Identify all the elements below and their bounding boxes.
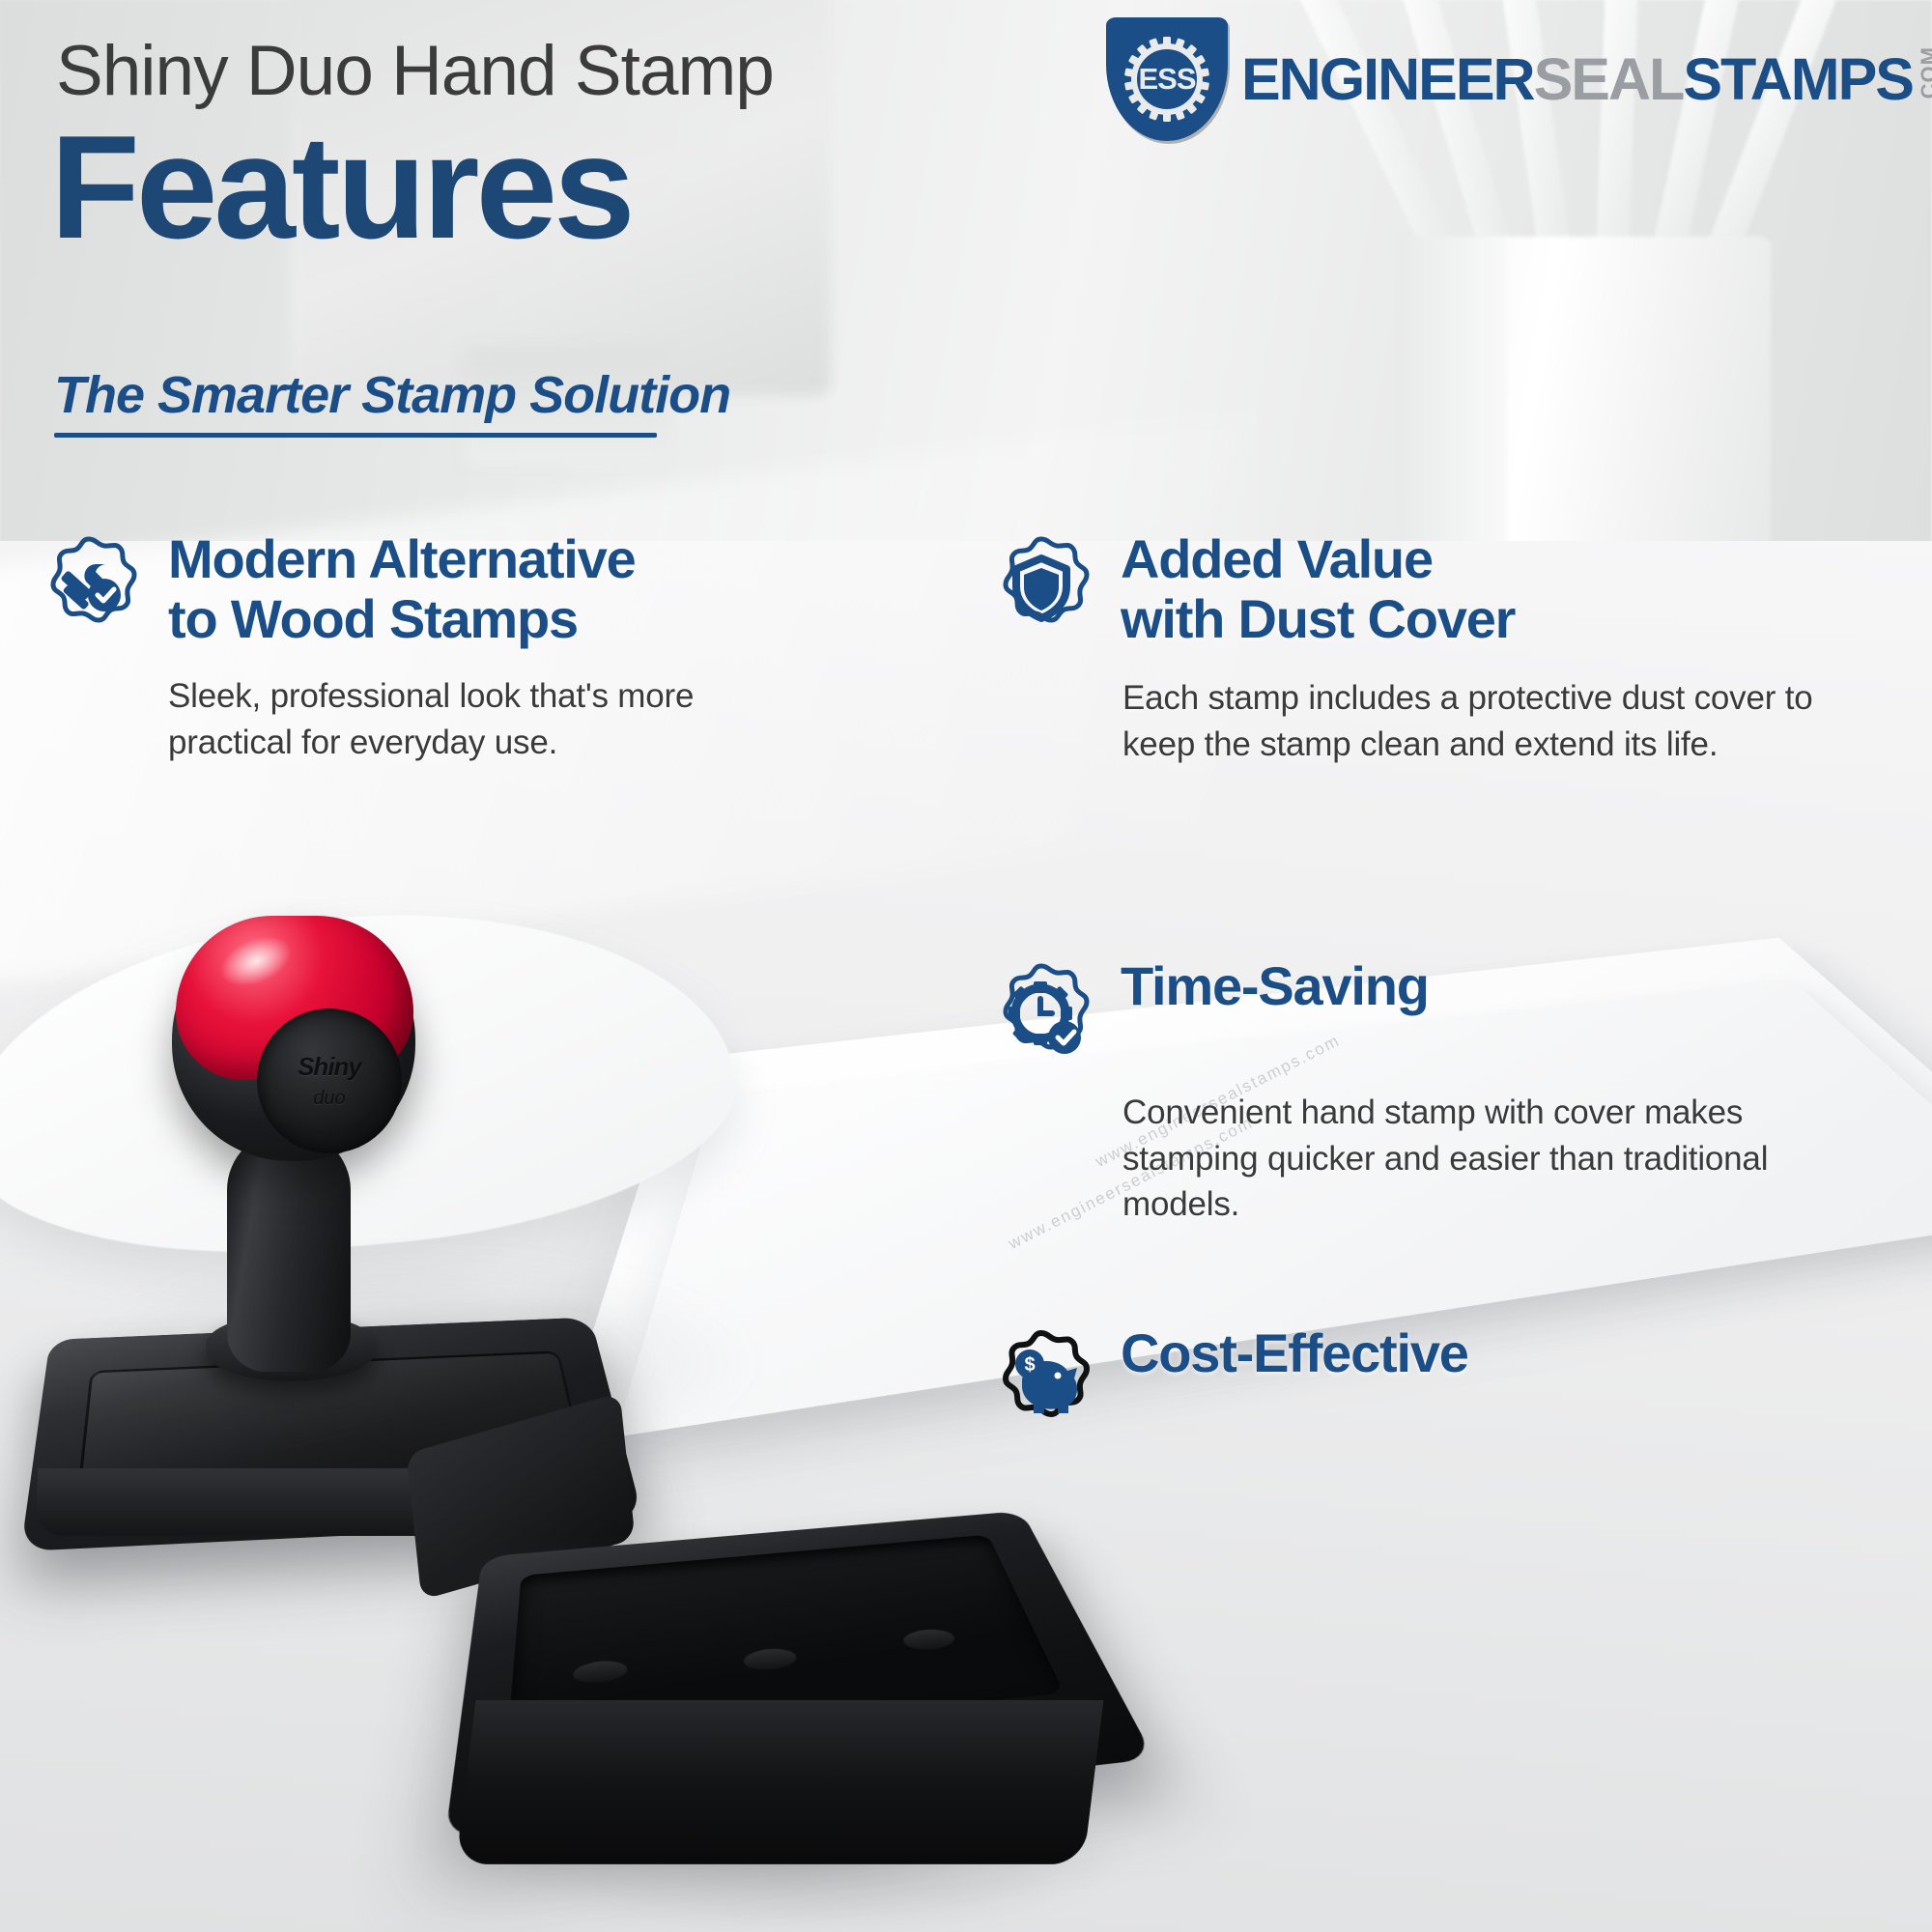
logo-wordmark: ENGINEER SEAL STAMPS .COM: [1241, 45, 1932, 113]
feature-title-group: Cost-Effective: [1121, 1323, 1468, 1383]
logo-word-seal: SEAL: [1534, 45, 1684, 113]
feature-title-group: Modern Alternative to Wood Stamps: [168, 529, 636, 648]
stamp-neck: [227, 1130, 351, 1372]
product-dust-cover: [473, 1459, 1150, 1913]
stamp-model-label: duo: [313, 1088, 345, 1110]
feature-title-line-1: Modern Alternative: [168, 529, 636, 589]
feature-title-line-1: Added Value: [1121, 529, 1515, 589]
feature-title-line-1: Cost-Effective: [1121, 1323, 1468, 1383]
gear-clock-check-icon: [987, 960, 1095, 1068]
feature-modern-alternative: Modern Alternative to Wood Stamps Sleek,…: [35, 529, 788, 765]
logo-word-stamps: STAMPS: [1683, 45, 1913, 113]
feature-title-group: Time-Saving: [1121, 956, 1429, 1016]
feature-title-line-2: with Dust Cover: [1121, 589, 1515, 649]
stamp-tool-check-icon: [35, 533, 143, 641]
stamp-brand-badge: Shiny duo: [257, 1009, 402, 1153]
brand-logo[interactable]: ESS ENGINEER SEAL STAMPS .COM: [1106, 17, 1932, 141]
subheading-block: The Smarter Stamp Solution: [54, 365, 730, 438]
logo-tld: .COM: [1917, 46, 1932, 105]
feature-added-value-dust-cover: Added Value with Dust Cover Each stamp i…: [987, 529, 1857, 767]
headline: Features: [50, 114, 632, 261]
feature-title-line-1: Time-Saving: [1121, 956, 1429, 1016]
feature-description: Convenient hand stamp with cover makes s…: [1122, 1090, 1828, 1228]
subheading-underline: [54, 433, 657, 438]
gear-icon: ESS: [1121, 33, 1213, 126]
feature-description: Each stamp includes a protective dust co…: [1122, 675, 1818, 767]
feature-description: Sleek, professional look that's more pra…: [168, 673, 748, 765]
feature-title-group: Added Value with Dust Cover: [1121, 529, 1515, 648]
svg-text:$: $: [1024, 1354, 1035, 1376]
dust-cover-side-wall: [456, 1700, 1104, 1864]
infographic-page: www.engineersealstamps.com www.engineers…: [0, 0, 1932, 1932]
background-pen-cup: [1399, 237, 1771, 555]
logo-shield-icon: ESS: [1106, 17, 1228, 141]
shield-icon: [987, 533, 1095, 641]
logo-monogram: ESS: [1121, 33, 1213, 126]
feature-cost-effective: $ Cost-Effective: [987, 1323, 1857, 1435]
piggy-bank-icon: $: [987, 1327, 1095, 1435]
page-title: Shiny Duo Hand Stamp: [56, 31, 774, 111]
feature-title-line-2: to Wood Stamps: [168, 589, 636, 649]
stamp-brand-label: Shiny: [298, 1052, 361, 1082]
logo-word-engineer: ENGINEER: [1241, 45, 1534, 113]
subheading: The Smarter Stamp Solution: [54, 365, 730, 425]
feature-time-saving: Time-Saving Convenient hand stamp with c…: [987, 956, 1857, 1228]
